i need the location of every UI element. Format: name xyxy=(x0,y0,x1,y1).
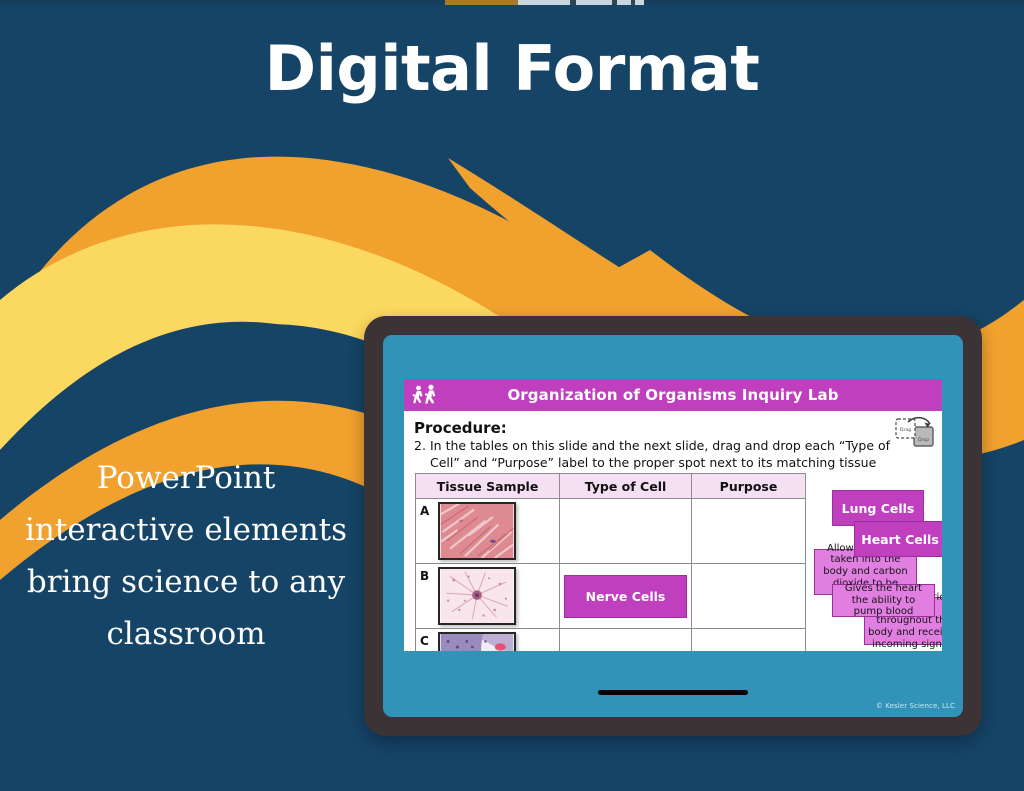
strip-segment-navy xyxy=(0,0,445,5)
copyright-notice: © Kesler Science, LLC xyxy=(876,702,955,710)
strip-segment-pale-a xyxy=(518,0,570,5)
type-of-cell-cell-a[interactable] xyxy=(560,499,692,564)
strip-segment-pale-d xyxy=(635,0,644,5)
placed-label-nerve-cells[interactable]: Nerve Cells xyxy=(564,575,687,618)
type-of-cell-cell-b[interactable]: Nerve Cells xyxy=(560,564,692,629)
table-row: B xyxy=(416,564,806,629)
drag-icon-label-drag: Drag xyxy=(900,427,911,433)
kesler-science-climbers-logo xyxy=(404,379,448,411)
top-cropped-strip xyxy=(0,0,1024,5)
type-of-cell-cell-c[interactable] xyxy=(560,629,692,652)
table-row: A xyxy=(416,499,806,564)
presentation-slide[interactable]: Organization of Organisms Inquiry Lab Pr… xyxy=(404,379,942,651)
home-indicator-bar[interactable] xyxy=(598,690,748,695)
table-row: C xyxy=(416,629,806,652)
tissue-sample-cell-a: A xyxy=(416,499,560,564)
purpose-cell-b[interactable] xyxy=(692,564,806,629)
tissue-sample-cell-c: C xyxy=(416,629,560,652)
row-letter-c: C xyxy=(420,632,433,648)
strip-segment-pale-b xyxy=(576,0,612,5)
row-letter-a: A xyxy=(420,502,433,518)
purpose-cell-a[interactable] xyxy=(692,499,806,564)
row-letter-b: B xyxy=(420,567,433,583)
column-header-tissue-sample: Tissue Sample xyxy=(416,474,560,499)
strip-segment-pale-c xyxy=(617,0,631,5)
slide-header-bar: Organization of Organisms Inquiry Lab xyxy=(404,379,942,411)
front-camera xyxy=(645,319,701,326)
table-header-row: Tissue Sample Type of Cell Purpose xyxy=(416,474,806,499)
slide-title: Organization of Organisms Inquiry Lab xyxy=(448,386,942,404)
column-header-purpose: Purpose xyxy=(692,474,806,499)
tablet-device: Organization of Organisms Inquiry Lab Pr… xyxy=(364,316,982,736)
drag-and-drop-icon: Drag Drop xyxy=(894,413,936,458)
column-header-type-of-cell: Type of Cell xyxy=(560,474,692,499)
draggable-purpose-heart[interactable]: Gives the heart the ability to pump bloo… xyxy=(832,584,935,617)
nerve-tissue-micrograph xyxy=(438,567,516,625)
draggable-label-heart-cells[interactable]: Heart Cells xyxy=(854,521,942,557)
muscle-tissue-micrograph xyxy=(438,502,516,560)
tissue-sample-table: Tissue Sample Type of Cell Purpose A xyxy=(415,473,806,651)
strip-segment-navy-end xyxy=(644,0,1024,5)
lung-tissue-micrograph xyxy=(438,632,516,651)
marketing-caption: PowerPoint interactive elements bring sc… xyxy=(14,452,358,660)
page-title: Digital Format xyxy=(0,32,1024,105)
strip-segment-gold xyxy=(445,0,518,5)
tablet-screen[interactable]: Organization of Organisms Inquiry Lab Pr… xyxy=(383,335,963,717)
tissue-sample-cell-b: B xyxy=(416,564,560,629)
procedure-label: Procedure: xyxy=(414,419,932,437)
purpose-cell-c[interactable] xyxy=(692,629,806,652)
drag-icon-label-drop: Drop xyxy=(918,437,929,443)
